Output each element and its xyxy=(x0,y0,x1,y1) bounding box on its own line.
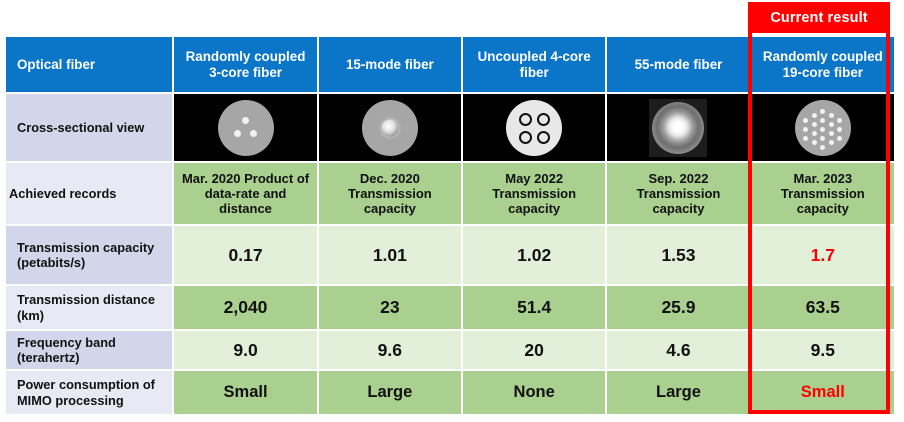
fiber-comparison-table: Optical fiber Randomly coupled 3-core fi… xyxy=(4,35,896,416)
header-3-core-fiber: Randomly coupled 3-core fiber xyxy=(174,37,316,92)
cell-power-55-mode: Large xyxy=(607,371,749,414)
table-row-power-consumption: Power consumption of MIMO processing Sma… xyxy=(6,371,894,414)
row-label-cross-sectional-view: Cross-sectional view xyxy=(6,94,172,161)
table-row-transmission-capacity: Transmission capacity (petabits/s) 0.17 … xyxy=(6,226,894,284)
cell-frequency-3-core: 9.0 xyxy=(174,331,316,369)
cell-cross-section-3-core xyxy=(174,94,316,161)
cell-distance-19-core: 63.5 xyxy=(752,286,894,329)
row-label-transmission-distance: Transmission distance (km) xyxy=(6,286,172,329)
row-label-transmission-capacity: Transmission capacity (petabits/s) xyxy=(6,226,172,284)
cell-distance-4-core: 51.4 xyxy=(463,286,605,329)
current-result-label: Current result xyxy=(770,10,867,26)
fiber-55-mode-icon xyxy=(607,94,749,161)
fiber-15-mode-icon xyxy=(319,94,461,161)
cell-capacity-4-core: 1.02 xyxy=(463,226,605,284)
header-4-core-fiber: Uncoupled 4-core fiber xyxy=(463,37,605,92)
header-19-core-fiber: Randomly coupled 19-core fiber xyxy=(752,37,894,92)
cell-cross-section-19-core xyxy=(752,94,894,161)
fiber-19-core-icon xyxy=(752,94,894,161)
cell-capacity-15-mode: 1.01 xyxy=(319,226,461,284)
table-row-transmission-distance: Transmission distance (km) 2,040 23 51.4… xyxy=(6,286,894,329)
cell-cross-section-55-mode xyxy=(607,94,749,161)
current-result-banner: Current result xyxy=(748,2,890,33)
header-55-mode-fiber: 55-mode fiber xyxy=(607,37,749,92)
cell-power-15-mode: Large xyxy=(319,371,461,414)
cell-records-15-mode: Dec. 2020 Transmission capacity xyxy=(319,163,461,224)
header-optical-fiber: Optical fiber xyxy=(6,37,172,92)
table-row-cross-sectional-view: Cross-sectional view xyxy=(6,94,894,161)
cell-power-4-core: None xyxy=(463,371,605,414)
cell-power-3-core: Small xyxy=(174,371,316,414)
cell-capacity-3-core: 0.17 xyxy=(174,226,316,284)
row-label-frequency-band: Frequency band (terahertz) xyxy=(6,331,172,369)
cell-frequency-55-mode: 4.6 xyxy=(607,331,749,369)
row-label-achieved-records: Achieved records xyxy=(6,163,172,224)
cell-distance-55-mode: 25.9 xyxy=(607,286,749,329)
cell-distance-3-core: 2,040 xyxy=(174,286,316,329)
cell-frequency-19-core: 9.5 xyxy=(752,331,894,369)
table-row-frequency-band: Frequency band (terahertz) 9.0 9.6 20 4.… xyxy=(6,331,894,369)
cell-power-19-core: Small xyxy=(752,371,894,414)
cell-frequency-15-mode: 9.6 xyxy=(319,331,461,369)
cell-records-3-core: Mar. 2020 Product of data-rate and dista… xyxy=(174,163,316,224)
cell-capacity-55-mode: 1.53 xyxy=(607,226,749,284)
table-header-row: Optical fiber Randomly coupled 3-core fi… xyxy=(6,37,894,92)
comparison-table-figure: Current result Optical fiber Randomly co… xyxy=(0,0,904,422)
fiber-4-core-icon xyxy=(463,94,605,161)
cell-records-55-mode: Sep. 2022 Transmission capacity xyxy=(607,163,749,224)
cell-records-4-core: May 2022 Transmission capacity xyxy=(463,163,605,224)
cell-cross-section-4-core xyxy=(463,94,605,161)
cell-records-19-core: Mar. 2023 Transmission capacity xyxy=(752,163,894,224)
cell-cross-section-15-mode xyxy=(319,94,461,161)
header-15-mode-fiber: 15-mode fiber xyxy=(319,37,461,92)
cell-distance-15-mode: 23 xyxy=(319,286,461,329)
row-label-power-consumption: Power consumption of MIMO processing xyxy=(6,371,172,414)
cell-capacity-19-core: 1.7 xyxy=(752,226,894,284)
cell-frequency-4-core: 20 xyxy=(463,331,605,369)
table-row-achieved-records: Achieved records Mar. 2020 Product of da… xyxy=(6,163,894,224)
fiber-3-core-icon xyxy=(174,94,316,161)
